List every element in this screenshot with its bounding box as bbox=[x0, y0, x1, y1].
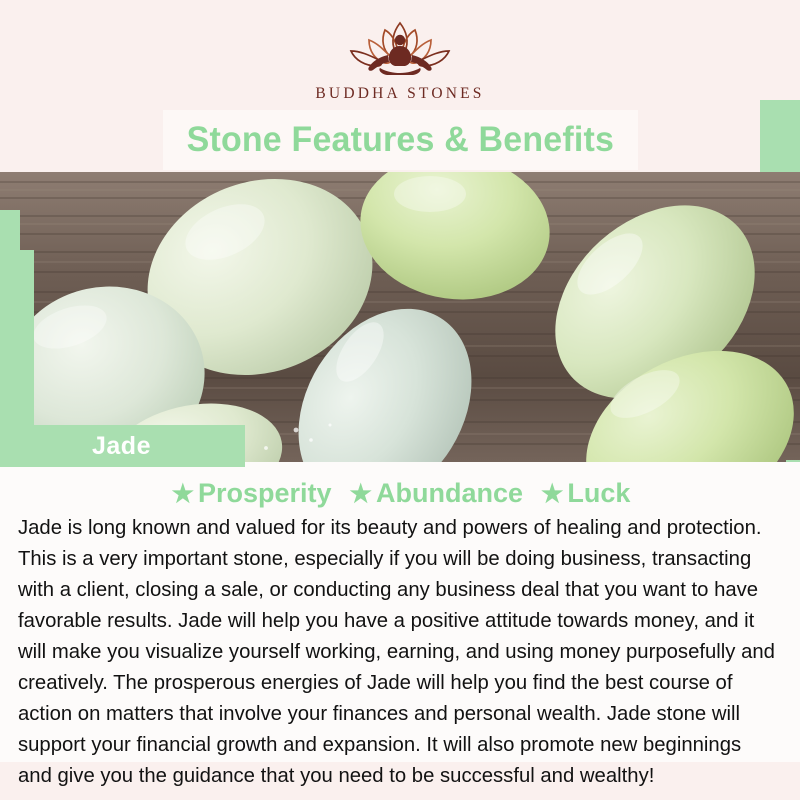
keyword-abundance: Abundance bbox=[376, 478, 523, 508]
content-panel: ★Prosperity★Abundance★Luck Jade is long … bbox=[0, 462, 800, 762]
stone-name-label: Jade bbox=[92, 432, 151, 461]
brand-name: BUDDHA STONES bbox=[315, 85, 484, 103]
stone-name-band: Jade bbox=[0, 425, 245, 467]
star-icon: ★ bbox=[350, 480, 372, 508]
keyword-row: ★Prosperity★Abundance★Luck bbox=[0, 478, 800, 509]
page-title: Stone Features & Benefits bbox=[187, 120, 614, 160]
lotus-meditation-icon bbox=[325, 18, 475, 80]
stone-description: Jade is long known and valued for its be… bbox=[18, 512, 780, 791]
decor-green-left-band-inner bbox=[18, 250, 34, 440]
infographic-page: BUDDHA STONES bbox=[0, 0, 800, 800]
star-icon: ★ bbox=[541, 480, 563, 508]
section-title-band: Stone Features & Benefits bbox=[163, 110, 638, 170]
star-icon: ★ bbox=[172, 480, 194, 508]
keyword-prosperity: Prosperity bbox=[198, 478, 332, 508]
stone-photo bbox=[0, 172, 800, 462]
decor-green-left-band bbox=[0, 210, 20, 460]
keyword-luck: Luck bbox=[567, 478, 630, 508]
brand-logo: BUDDHA STONES bbox=[0, 18, 800, 113]
